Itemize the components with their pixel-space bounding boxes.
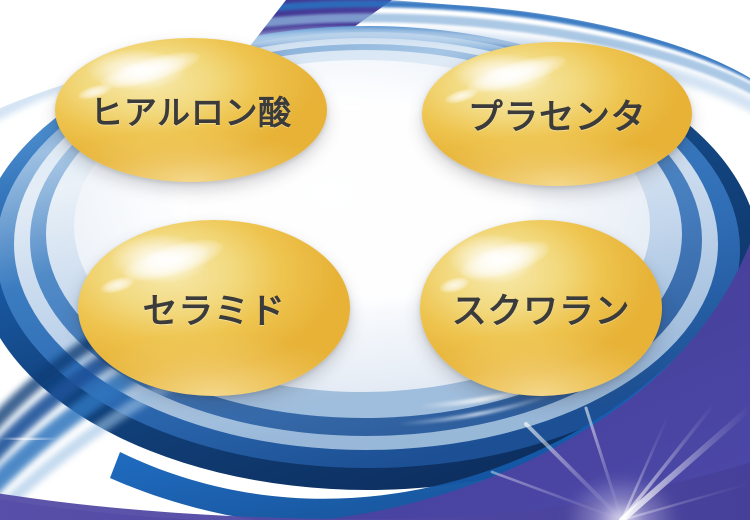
ingredient-badge-placenta[interactable]: プラセンタ bbox=[422, 42, 692, 186]
ingredient-label: セラミド bbox=[143, 283, 286, 334]
ingredient-label: ヒアルロン酸 bbox=[90, 86, 292, 134]
ingredient-label: スクワラン bbox=[452, 283, 631, 334]
badge-highlight-icon bbox=[119, 231, 227, 288]
ingredient-badge-hyaluronic-acid[interactable]: ヒアルロン酸 bbox=[55, 38, 327, 182]
badge-highlight-icon bbox=[456, 233, 553, 287]
ingredient-label: プラセンタ bbox=[468, 89, 647, 140]
badge-spark-icon bbox=[98, 273, 136, 296]
ingredient-badge-ceramide[interactable]: セラミド bbox=[78, 220, 350, 396]
ingredient-badge-squalane[interactable]: スクワラン bbox=[420, 220, 662, 396]
ingredient-badge-banner: ヒアルロン酸 プラセンタ セラミド スクワラン bbox=[0, 0, 750, 520]
